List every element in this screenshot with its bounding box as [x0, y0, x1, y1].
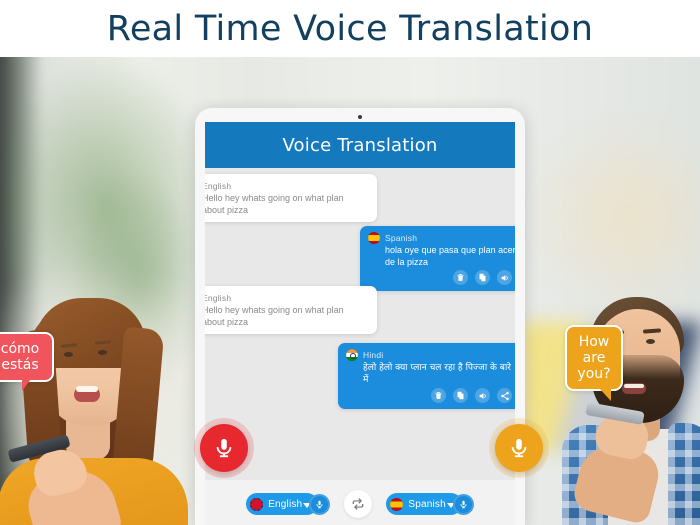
speaker-icon[interactable]: [497, 270, 512, 285]
target-language-selector[interactable]: Spanish: [386, 493, 462, 515]
person-left-woman: [0, 290, 199, 525]
spain-flag-icon: [368, 232, 380, 244]
chat-bubble-english-2[interactable]: English Hello hey whats going on what pl…: [205, 286, 377, 334]
microphone-icon: [213, 435, 235, 461]
app-header: Voice Translation: [205, 122, 515, 168]
target-language-group: Spanish: [386, 493, 474, 515]
source-language-label: English: [268, 499, 302, 510]
bubble-header: Hindi: [346, 349, 512, 361]
bubble-language-label: Hindi: [363, 350, 383, 360]
bubble-text: Hello hey whats going on what plan about…: [205, 305, 368, 328]
microphone-icon: [508, 435, 530, 461]
chat-bubble-hindi[interactable]: Hindi हेलो हेलो क्या प्लान चल रहा है पिज…: [338, 343, 515, 409]
target-language-label: Spanish: [408, 499, 446, 510]
tablet-device: Voice Translation English Hello hey what…: [195, 108, 525, 525]
record-button-left[interactable]: [200, 424, 248, 472]
chat-list[interactable]: English Hello hey whats going on what pl…: [205, 168, 515, 525]
source-language-selector[interactable]: English: [246, 493, 318, 515]
eye-left: [64, 352, 73, 357]
bubble-language-label: Spanish: [385, 233, 417, 243]
tablet-screen: Voice Translation English Hello hey what…: [205, 122, 515, 525]
share-icon[interactable]: [497, 388, 512, 403]
swap-languages-icon: [350, 496, 366, 512]
uk-flag-icon: [250, 498, 263, 511]
bubble-header: Spanish: [368, 232, 515, 244]
background-light-right: [520, 117, 700, 317]
bubble-actions: [346, 388, 512, 403]
record-button-right[interactable]: [495, 424, 543, 472]
bubble-language-label: English: [205, 181, 231, 191]
teeth: [76, 386, 98, 392]
target-mic-button[interactable]: [453, 494, 474, 515]
plaid-shirt-right: [668, 423, 700, 525]
bubble-text: Hello hey whats going on what plan about…: [205, 193, 368, 216]
speech-bubble-left: cómo estás: [0, 332, 54, 382]
eye-right: [646, 339, 655, 344]
swap-languages-button[interactable]: [344, 490, 372, 518]
source-mic-button[interactable]: [309, 494, 330, 515]
speech-bubble-right: How are you?: [565, 325, 623, 391]
bubble-text: हेलो हेलो क्या प्लान चल रहा है पिज्जा के…: [346, 362, 512, 386]
eye-right: [98, 350, 107, 355]
chat-bubble-english-1[interactable]: English Hello hey whats going on what pl…: [205, 174, 377, 222]
bubble-header: English: [205, 180, 368, 192]
chat-bubble-spanish[interactable]: Spanish hola oye que pasa que plan acerc…: [360, 226, 515, 291]
delete-icon[interactable]: [431, 388, 446, 403]
india-flag-icon: [346, 349, 358, 361]
source-language-group: English: [246, 493, 330, 515]
bubble-actions: [368, 270, 515, 285]
language-toolbar: English Spanish: [205, 480, 515, 525]
bubble-text: hola oye que pasa que plan acerca de la …: [368, 245, 515, 268]
speaker-icon[interactable]: [475, 388, 490, 403]
banner: Real Time Voice Translation: [0, 0, 700, 57]
app-title: Voice Translation: [282, 135, 437, 156]
delete-icon[interactable]: [453, 270, 468, 285]
teeth: [624, 384, 644, 388]
bubble-language-label: English: [205, 293, 231, 303]
spain-flag-icon: [390, 498, 403, 511]
copy-icon[interactable]: [453, 388, 468, 403]
tablet-camera: [358, 115, 362, 119]
page-title: Real Time Voice Translation: [107, 9, 593, 49]
bubble-header: English: [205, 292, 368, 304]
app-root: Real Time Voice Translation Voice Transl…: [0, 0, 700, 525]
copy-icon[interactable]: [475, 270, 490, 285]
